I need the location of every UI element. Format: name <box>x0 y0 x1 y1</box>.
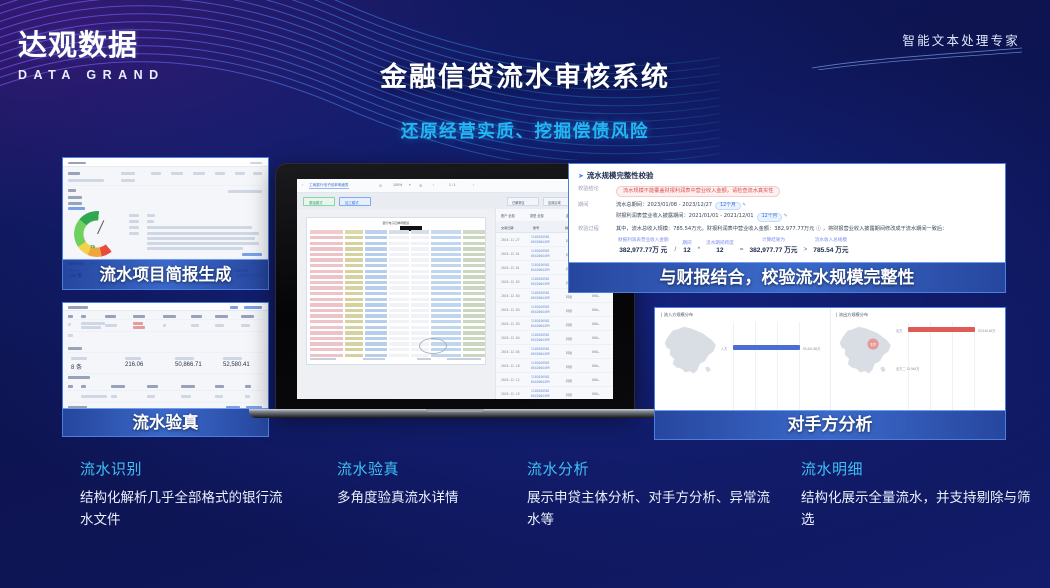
doc-cell <box>463 348 485 351</box>
filter-account[interactable]: 账户 全部 <box>501 213 515 218</box>
cell-account-1: 1102026501 <box>531 319 550 323</box>
doc-cell <box>463 242 485 245</box>
doc-cell <box>411 264 429 267</box>
label-conclusion: 校验结论 <box>578 186 616 198</box>
doc-cell <box>463 281 485 284</box>
card-verify[interactable]: 8 条 216.06 50,866.71 52,580.41 <box>62 302 269 437</box>
doc-cell <box>411 275 429 278</box>
cell-account-2: 0542004499 <box>531 296 550 300</box>
doc-cell <box>431 320 461 323</box>
cell-date: 2016-12-04 <box>501 336 520 340</box>
doc-cell <box>310 242 343 245</box>
doc-cell <box>310 320 343 323</box>
doc-cell <box>389 275 409 278</box>
card-brief-caption: 流水项目简报生成 <box>63 259 268 289</box>
cell-account-1: 1102026501 <box>531 347 550 351</box>
doc-cell <box>411 303 429 306</box>
doc-cell <box>365 348 387 351</box>
doc-cell <box>411 326 429 329</box>
app-breadcrumb[interactable]: 工商银行电子回单明细表 <box>309 183 349 189</box>
formula-item-2: 流水期间跨度 12 <box>706 240 734 254</box>
doc-cell <box>345 303 363 306</box>
doc-cell <box>431 292 461 295</box>
period-line-1: 流水总期间：2023/01/08 - 2023/12/2712个月 ✎ <box>616 202 788 211</box>
doc-cell <box>345 326 363 329</box>
cell-account-1: 1102026501 <box>531 263 550 267</box>
doc-cell <box>411 314 429 317</box>
doc-cell <box>365 314 387 317</box>
doc-cell <box>345 281 363 284</box>
card-counterparty-caption: 对手方分析 <box>655 410 1005 439</box>
cell-account-2: 0542004499 <box>531 380 550 384</box>
document-preview-pane: 银行电子回单明细表 <box>297 209 495 399</box>
verify-stat-value-1: 216.06 <box>125 362 143 368</box>
cell-account-2: 0542004499 <box>531 366 550 370</box>
outflow-sub-label: 出方二 13,946万 <box>896 366 919 371</box>
doc-cell <box>389 337 409 340</box>
doc-cell <box>463 337 485 340</box>
laptop-screen: ‹ 工商银行电子回单明细表 ⊘ 100% ▾ ⚙ ‹ 1 / 1 › ⊞ — 原… <box>297 179 613 399</box>
expand-arrow-icon[interactable]: ➤ <box>578 172 584 180</box>
formula-op-0: / <box>675 246 677 254</box>
doc-cell <box>431 258 461 261</box>
doc-cell <box>411 320 429 323</box>
doc-cell <box>463 292 485 295</box>
table-row[interactable]: 2016-12-0411020265010542004499转账000… <box>496 331 613 345</box>
label-process: 校验过程 <box>578 226 616 234</box>
annotation-ellipse <box>419 338 447 354</box>
doc-cell <box>345 331 363 334</box>
doc-cell <box>365 286 387 289</box>
doc-cell <box>431 247 461 250</box>
feature-body-2: 展示申贷主体分析、对手方分析、异常流水等 <box>527 488 782 532</box>
doc-cell <box>411 258 429 261</box>
cell-name: 000… <box>592 294 599 298</box>
verify-stat-value-3: 52,580.41 <box>223 362 250 368</box>
cell-date: 2016-12-12 <box>501 378 520 382</box>
doc-cell <box>431 354 461 357</box>
doc-cell <box>310 253 343 256</box>
inflow-bar-value: 53,461.86万 <box>803 346 820 351</box>
feature-block-analysis: 流水分析 展示申贷主体分析、对手方分析、异常流水等 <box>527 458 782 532</box>
doc-cell <box>310 286 343 289</box>
verify-stat-value-2: 50,866.71 <box>175 362 202 368</box>
cell-abstract: 转账 <box>566 308 572 313</box>
page-subtitle: 还原经营实质、挖掘偿债风险 <box>0 118 1050 143</box>
doc-cell <box>365 292 387 295</box>
doc-cell <box>411 247 429 250</box>
period-line-2: 财报利润表营业收入披露期间：2021/01/01 - 2021/12/0112个… <box>616 213 788 222</box>
process-text: 其中，流水总收入规模：785.54万元。财报利润表中营业收入金额：382,977… <box>616 226 947 234</box>
page-title: 金融信贷流水审核系统 <box>0 55 1050 94</box>
doc-cell <box>365 337 387 340</box>
doc-cell <box>431 270 461 273</box>
feature-block-verification: 流水验真 多角度验真流水详情 <box>337 458 532 510</box>
cell-name: 000… <box>592 350 599 354</box>
doc-cell <box>431 281 461 284</box>
doc-cell <box>310 281 343 284</box>
app-toolbar[interactable]: ‹ 工商银行电子回单明细表 ⊘ 100% ▾ ⚙ ‹ 1 / 1 › ⊞ — <box>297 179 613 193</box>
doc-cell <box>463 320 485 323</box>
doc-cell <box>345 242 363 245</box>
card-integrity-check[interactable]: ➤流水规模完整性校验 校验结论 流水规模不能覆盖财报利润表中营业收入金额，请检查… <box>568 163 1006 293</box>
tab-processed-mode[interactable]: 加工模式 <box>339 197 371 206</box>
doc-cell <box>411 298 429 301</box>
doc-cell <box>310 292 343 295</box>
doc-cell <box>411 236 429 239</box>
cell-account-1: 1102026501 <box>531 277 550 281</box>
doc-cell <box>365 354 387 357</box>
doc-cell <box>365 320 387 323</box>
doc-cell <box>411 242 429 245</box>
svg-text:北京: 北京 <box>870 341 876 346</box>
doc-cell <box>389 320 409 323</box>
doc-cell <box>431 253 461 256</box>
alert-badge: 流水规模不能覆盖财报利润表中营业收入金额，请检查流水真实性 <box>616 186 780 198</box>
doc-cell <box>345 264 363 267</box>
cell-date: 2016-12-01 <box>501 252 520 256</box>
cell-abstract: 转账 <box>566 322 572 327</box>
card-integrity-caption: 与财报结合，校验流水规模完整性 <box>569 262 1005 292</box>
doc-cell <box>345 337 363 340</box>
feature-heading-1: 流水验真 <box>337 458 532 479</box>
cell-name: 000… <box>592 364 599 368</box>
feature-block-detail: 流水明细 结构化展示全量流水，并支持剔除与筛选 <box>801 458 1031 532</box>
doc-cell <box>463 264 485 267</box>
feature-body-0: 结构化解析几乎全部格式的银行流水文件 <box>80 488 295 532</box>
outflow-bar-label: 出方 <box>896 328 902 333</box>
integrity-formula: 财报利润表营业收入金额 382,977.77万 元 / 期间 12 * 流水期间… <box>578 237 996 254</box>
doc-cell <box>463 303 485 306</box>
formula-item-4: 流水收入总规模 785.54 万元 <box>813 237 848 254</box>
period-chip-1[interactable]: 12个月 <box>715 202 741 211</box>
feature-heading-2: 流水分析 <box>527 458 782 479</box>
outflow-bar <box>908 327 975 332</box>
inflow-bar-label: 入方 <box>721 346 727 351</box>
feature-heading-3: 流水明细 <box>801 458 1031 479</box>
doc-cell <box>389 270 409 273</box>
app-zoom-level[interactable]: 100% <box>393 183 402 187</box>
doc-cell <box>463 236 485 239</box>
china-map-inflow <box>659 320 721 378</box>
doc-cell <box>365 258 387 261</box>
cell-account-2: 0542004499 <box>531 394 550 398</box>
table-row[interactable]: 2016-12-1511020265010542004499转账000… <box>496 387 613 399</box>
doc-cell <box>463 326 485 329</box>
slide-canvas: 达观数据 DATA GRAND 智能文本处理专家 金融信贷流水审核系统 还原经营… <box>0 0 1050 588</box>
doc-cell <box>389 314 409 317</box>
cell-account-1: 1102026501 <box>531 235 550 239</box>
table-row[interactable]: 2016-12-0311020265010542004499转账000… <box>496 303 613 317</box>
doc-cell <box>431 326 461 329</box>
doc-cell <box>431 286 461 289</box>
doc-cell <box>310 275 343 278</box>
doc-cell <box>365 281 387 284</box>
doc-cell <box>463 314 485 317</box>
doc-cell <box>310 331 343 334</box>
app-page-indicator: 1 / 1 <box>449 183 456 187</box>
doc-cell <box>431 264 461 267</box>
doc-cell <box>365 309 387 312</box>
doc-cell <box>365 342 387 345</box>
doc-cell <box>431 236 461 239</box>
doc-cell <box>310 337 343 340</box>
doc-cell <box>345 258 363 261</box>
integrity-row-conclusion: 校验结论 流水规模不能覆盖财报利润表中营业收入金额，请检查流水真实性 <box>578 186 996 198</box>
doc-cell <box>389 331 409 334</box>
document-title: 银行电子回单明细表 <box>382 221 409 225</box>
cell-date: 2016-12-01 <box>501 266 520 270</box>
doc-cell <box>345 314 363 317</box>
doc-cell <box>365 242 387 245</box>
doc-cell <box>389 242 409 245</box>
cell-account-2: 0542004499 <box>531 282 550 286</box>
doc-cell <box>365 270 387 273</box>
doc-cell <box>463 331 485 334</box>
cell-date: 2016-12-02 <box>501 280 520 284</box>
laptop-hinge-notch <box>426 409 484 412</box>
doc-cell <box>365 298 387 301</box>
doc-cell <box>463 309 485 312</box>
cell-account-1: 1102026501 <box>531 333 550 337</box>
cell-name: 000… <box>592 378 599 382</box>
doc-cell <box>345 236 363 239</box>
cell-abstract: 转账 <box>566 378 572 383</box>
tab-original-mode[interactable]: 原始模式 <box>303 197 335 206</box>
cell-account-2: 0542004499 <box>531 310 550 314</box>
doc-cell <box>310 247 343 250</box>
doc-cell <box>365 264 387 267</box>
doc-cell <box>411 281 429 284</box>
doc-cell <box>310 309 343 312</box>
doc-cell <box>310 303 343 306</box>
china-map-outflow: 北京 <box>834 320 896 378</box>
doc-cell <box>389 286 409 289</box>
doc-cell <box>310 258 343 261</box>
doc-cell <box>345 309 363 312</box>
cell-account-1: 1102026501 <box>531 291 550 295</box>
table-row[interactable]: 2016-12-0311020265010542004499转账000… <box>496 317 613 331</box>
doc-cell <box>345 354 363 357</box>
doc-cell <box>431 309 461 312</box>
doc-cell <box>431 303 461 306</box>
doc-cell <box>310 314 343 317</box>
doc-cell <box>389 236 409 239</box>
cell-date: 2016-12-03 <box>501 294 520 298</box>
doc-cell <box>310 348 343 351</box>
integrity-row-process: 校验过程 其中，流水总收入规模：785.54万元。财报利润表中营业收入金额：38… <box>578 226 996 234</box>
inflow-bar <box>733 345 800 350</box>
doc-cell <box>411 331 429 334</box>
feature-block-recognition: 流水识别 结构化解析几乎全部格式的银行流水文件 <box>80 458 295 532</box>
doc-cell <box>345 292 363 295</box>
card-counterparty-analysis[interactable]: | 流入方规模分布 入方 53,461.86万 | 流出方规模分布 <box>654 307 1006 440</box>
doc-cell <box>389 326 409 329</box>
doc-cell <box>310 342 343 345</box>
cell-account-1: 1102026501 <box>531 305 550 309</box>
doc-cell <box>365 253 387 256</box>
doc-cell <box>389 348 409 351</box>
cell-account-2: 0542004499 <box>531 338 550 342</box>
cell-date: 2016-12-15 <box>501 392 520 396</box>
formula-item-1: 期间 12 <box>682 240 691 254</box>
doc-cell <box>411 354 429 357</box>
cell-account-2: 0542004499 <box>531 254 550 258</box>
card-brief-report[interactable]: 75 292 笔 1 个 25 个 <box>62 157 269 290</box>
doc-cell <box>463 286 485 289</box>
doc-cell <box>389 247 409 250</box>
doc-cell <box>463 258 485 261</box>
cell-date: 2016-11-27 <box>501 238 520 242</box>
cell-name: 000… <box>592 308 599 312</box>
doc-cell <box>310 236 343 239</box>
doc-cell <box>345 320 363 323</box>
doc-cell <box>411 309 429 312</box>
cell-account-2: 0542004499 <box>531 240 550 244</box>
filter-type[interactable]: 类型 全部 <box>530 213 544 218</box>
verify-stat-value-0: 8 条 <box>71 362 82 371</box>
doc-cell <box>345 348 363 351</box>
brand-tagline: 智能文本处理专家 <box>902 30 1020 49</box>
cell-name: 000… <box>592 322 599 326</box>
doc-cell <box>463 342 485 345</box>
cell-account-2: 0542004499 <box>531 324 550 328</box>
gauge-score-value: 75 <box>90 244 95 249</box>
formula-op-1: * <box>698 246 701 254</box>
cell-account-1: 1102026501 <box>531 389 550 393</box>
doc-cell <box>389 303 409 306</box>
cell-abstract: 转账 <box>566 294 572 299</box>
doc-cell <box>463 253 485 256</box>
doc-cell <box>389 292 409 295</box>
doc-cell <box>431 275 461 278</box>
cell-abstract: 转账 <box>566 364 572 369</box>
doc-cell <box>463 275 485 278</box>
doc-cell <box>389 281 409 284</box>
doc-cell <box>310 298 343 301</box>
doc-cell <box>310 270 343 273</box>
label-period: 期间 <box>578 202 616 222</box>
doc-cell <box>411 253 429 256</box>
cell-name: 000… <box>592 336 599 340</box>
cell-account-2: 0542004499 <box>531 268 550 272</box>
doc-cell <box>310 326 343 329</box>
doc-cell <box>463 247 485 250</box>
cell-account-2: 0542004499 <box>531 352 550 356</box>
formula-item-0: 财报利润表营业收入金额 382,977.77万 元 <box>618 237 669 254</box>
table-row[interactable]: 2016-12-1211020265010542004499转账000… <box>496 373 613 387</box>
card-verify-caption: 流水验真 <box>63 408 268 436</box>
formula-item-3: 计算结果为 382,977.77 万元 <box>749 237 797 254</box>
doc-cell <box>431 242 461 245</box>
period-chip-2[interactable]: 12个月 <box>757 213 783 222</box>
doc-cell <box>365 236 387 239</box>
feature-body-1: 多角度验真流水详情 <box>337 488 532 510</box>
doc-cell <box>389 354 409 357</box>
inflow-chart-title: | 流入方规模分布 <box>661 312 693 318</box>
doc-cell <box>411 270 429 273</box>
doc-cell <box>310 264 343 267</box>
cell-abstract: 转账 <box>566 350 572 355</box>
doc-cell <box>411 286 429 289</box>
doc-cell <box>345 270 363 273</box>
formula-op-3: > <box>804 246 808 254</box>
cell-account-1: 1102026501 <box>531 249 550 253</box>
doc-cell <box>310 354 343 357</box>
doc-cell <box>431 314 461 317</box>
feature-body-3: 结构化展示全量流水，并支持剔除与筛选 <box>801 488 1031 532</box>
doc-cell <box>389 298 409 301</box>
scanned-statement-document: 银行电子回单明细表 <box>306 217 486 365</box>
doc-cell <box>389 309 409 312</box>
doc-cell <box>365 326 387 329</box>
doc-cell <box>365 303 387 306</box>
feature-heading-0: 流水识别 <box>80 458 295 479</box>
cell-date: 2016-12-10 <box>501 364 520 368</box>
doc-cell <box>389 253 409 256</box>
table-row[interactable]: 2016-12-1011020265010542004499转账000… <box>496 359 613 373</box>
doc-cell <box>463 270 485 273</box>
doc-cell <box>345 298 363 301</box>
brief-topbar <box>63 158 268 167</box>
outflow-chart-title: | 流出方规模分布 <box>836 312 868 318</box>
doc-cell <box>463 354 485 357</box>
cell-abstract: 转账 <box>566 336 572 341</box>
formula-op-2: = <box>740 246 744 254</box>
cell-date: 2016-12-03 <box>501 322 520 326</box>
doc-cell <box>431 298 461 301</box>
integrity-panel-title: ➤流水规模完整性校验 <box>578 170 996 181</box>
doc-cell <box>345 247 363 250</box>
doc-cell <box>345 253 363 256</box>
cell-name: 000… <box>592 392 599 396</box>
cell-account-1: 1102026501 <box>531 375 550 379</box>
doc-cell <box>389 264 409 267</box>
doc-cell <box>345 286 363 289</box>
doc-cell <box>365 275 387 278</box>
table-row[interactable]: 2016-12-0511020265010542004499转账000… <box>496 345 613 359</box>
cell-abstract: 转账 <box>566 392 572 397</box>
doc-cell <box>365 247 387 250</box>
doc-cell <box>389 342 409 345</box>
doc-cell <box>463 298 485 301</box>
toggle-parsed-area[interactable]: 已解析区 <box>507 197 539 206</box>
doc-cell <box>345 275 363 278</box>
doc-cell <box>411 292 429 295</box>
cell-date: 2016-12-05 <box>501 350 520 354</box>
doc-cell <box>389 258 409 261</box>
doc-cell <box>345 342 363 345</box>
doc-cell <box>431 331 461 334</box>
outflow-bar-value: 53,546.48万 <box>978 328 995 333</box>
integrity-row-period: 期间 流水总期间：2023/01/08 - 2023/12/2712个月 ✎ 财… <box>578 202 996 222</box>
doc-cell <box>365 331 387 334</box>
cell-date: 2016-12-03 <box>501 308 520 312</box>
cell-account-1: 1102026501 <box>531 361 550 365</box>
